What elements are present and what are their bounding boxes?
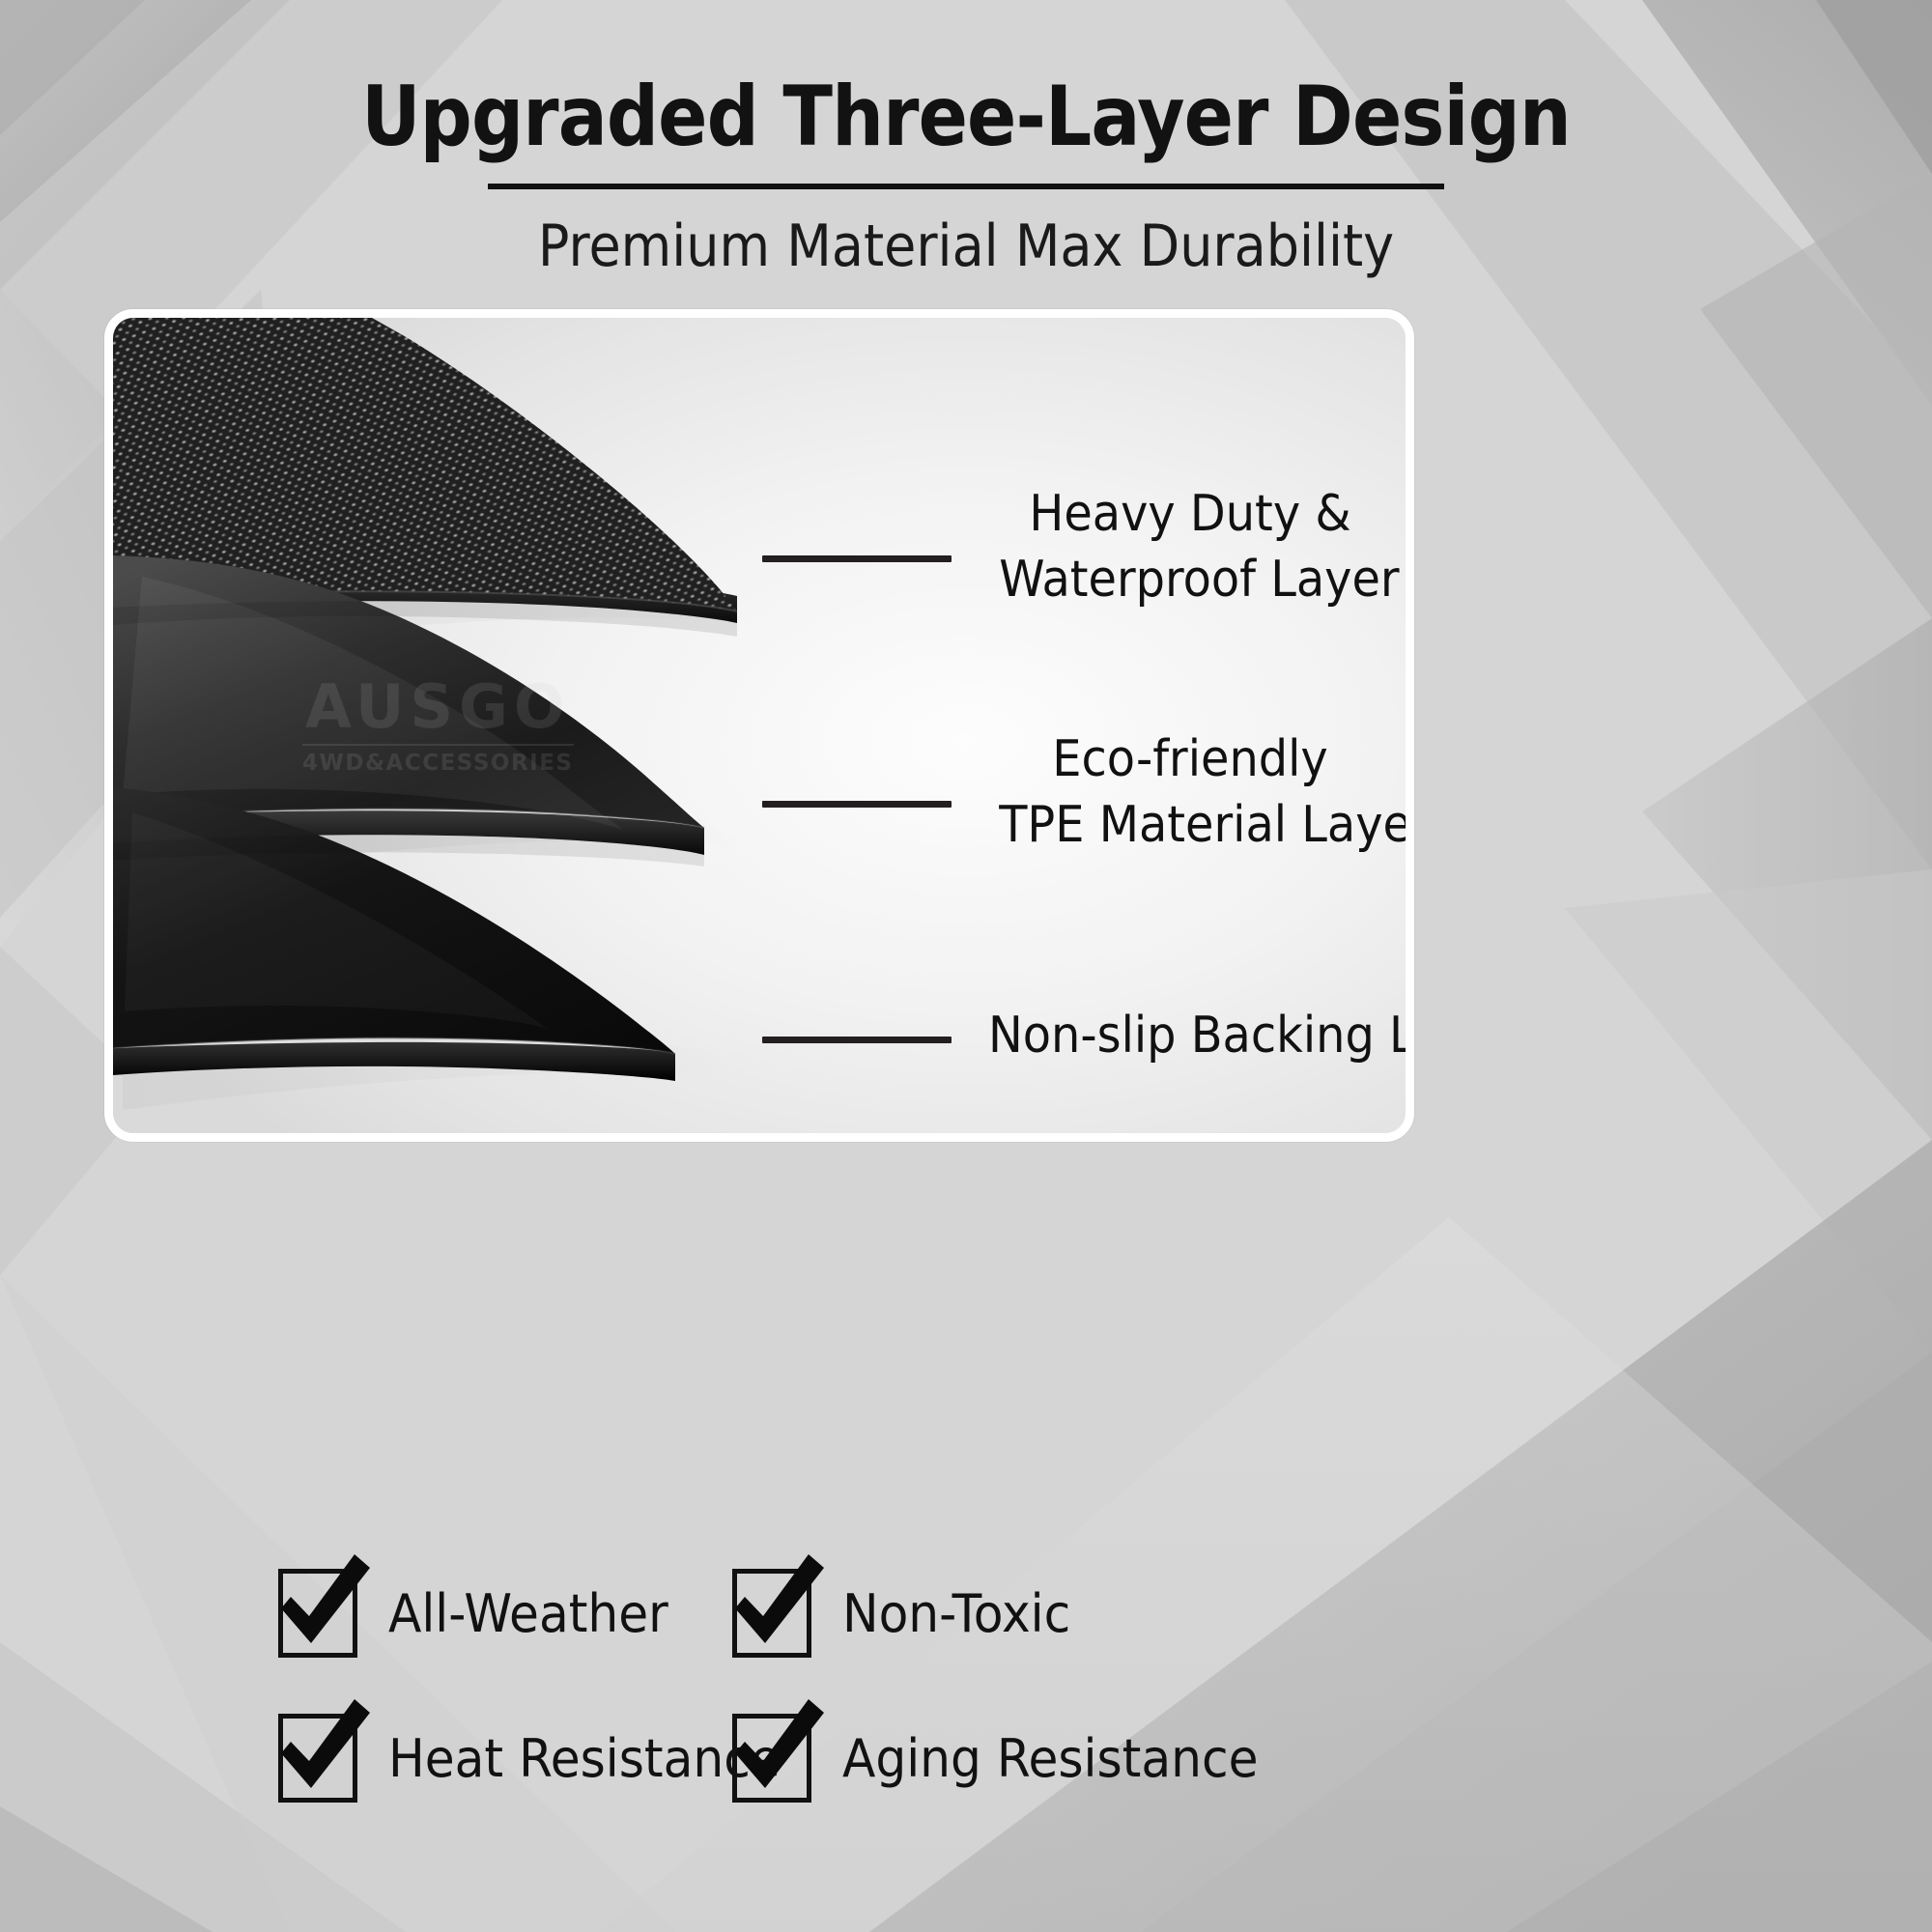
feature-item-aging-resistance[interactable]: Aging Resistance [715, 1686, 1584, 1831]
feature-item-heat-resistance[interactable]: Heat Resistance [0, 1686, 715, 1831]
product-image-card: AUSGO 4WD&ACCESSORIES Heavy Duty & Water… [104, 309, 1414, 1142]
feature-row-1: All-Weather Non-Toxic [0, 1541, 1932, 1686]
checkmark-icon [266, 1548, 380, 1662]
feature-label: All-Weather [388, 1583, 668, 1644]
feature-list: All-Weather Non-Toxic Heat Resistance [0, 1541, 1932, 1831]
checkmark-icon [720, 1693, 834, 1807]
feature-label: Non-Toxic [842, 1583, 1070, 1644]
callout-line-1: Eco-friendly [999, 727, 1381, 793]
checkmark-icon [720, 1548, 834, 1662]
title-divider [488, 184, 1444, 189]
header: Upgraded Three-Layer Design Premium Mate… [0, 0, 1932, 280]
feature-label: Aging Resistance [842, 1728, 1258, 1789]
feature-item-non-toxic[interactable]: Non-Toxic [715, 1541, 1584, 1686]
callout-label-layer-1: Heavy Duty & Waterproof Layer [999, 482, 1381, 612]
callout-line-1: Non-slip Backing Layer [988, 1004, 1388, 1069]
checkbox-checked-icon[interactable] [278, 1714, 357, 1803]
callout-label-layer-2: Eco-friendly TPE Material Layer [999, 727, 1381, 858]
callout-line-1: Heavy Duty & [999, 482, 1381, 548]
checkmark-icon [266, 1693, 380, 1807]
leader-line-layer-2 [762, 801, 952, 808]
callout-line-2: Waterproof Layer [999, 548, 1381, 613]
checkbox-checked-icon[interactable] [732, 1569, 811, 1658]
leader-line-layer-3 [762, 1037, 952, 1043]
page-title: Upgraded Three-Layer Design [116, 75, 1816, 158]
page-subtitle: Premium Material Max Durability [97, 213, 1835, 280]
leader-line-layer-1 [762, 555, 952, 562]
callout-line-2: TPE Material Layer [999, 793, 1381, 859]
feature-row-2: Heat Resistance Aging Resistance [0, 1686, 1932, 1831]
callout-label-layer-3: Non-slip Backing Layer [988, 1004, 1388, 1069]
feature-item-all-weather[interactable]: All-Weather [0, 1541, 715, 1686]
checkbox-checked-icon[interactable] [278, 1569, 357, 1658]
checkbox-checked-icon[interactable] [732, 1714, 811, 1803]
